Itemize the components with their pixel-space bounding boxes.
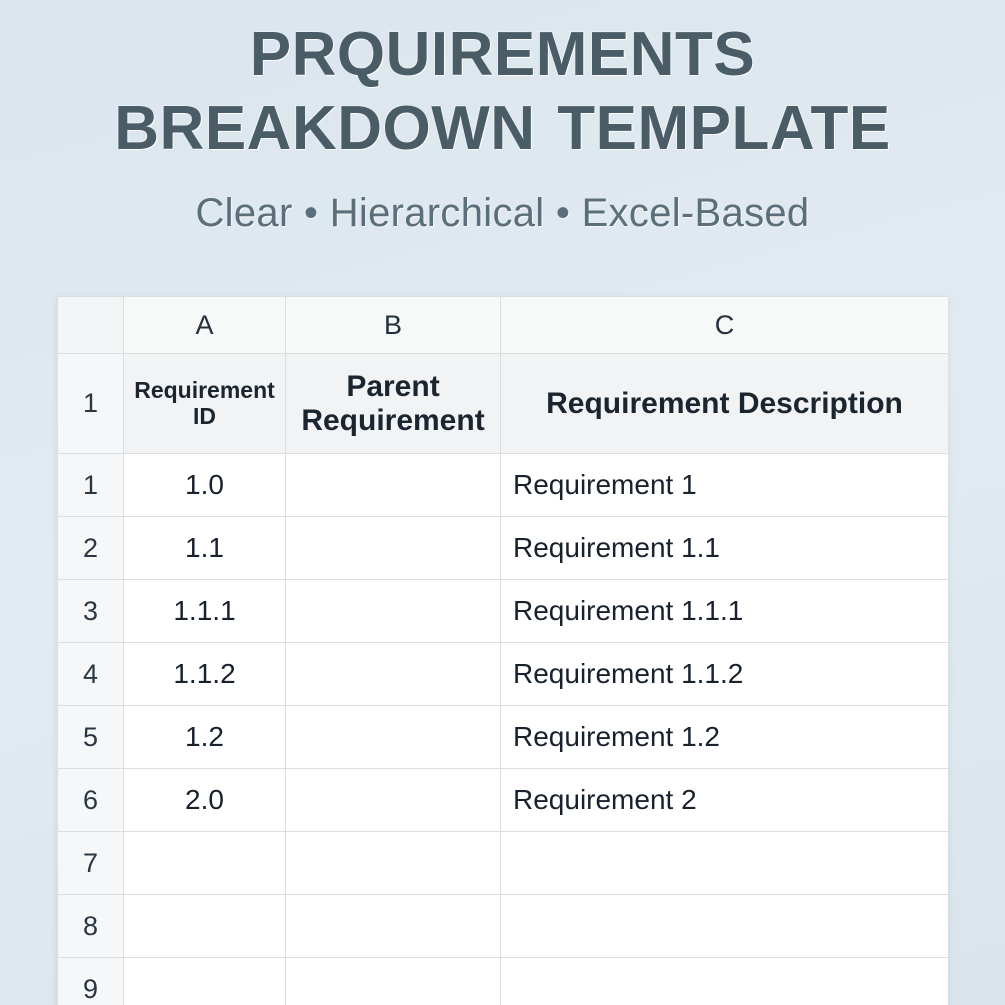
row-number[interactable]: 2 — [58, 517, 124, 580]
cell-requirement-description[interactable] — [501, 832, 949, 895]
cell-requirement-id[interactable] — [124, 895, 286, 958]
cell-requirement-id[interactable]: 1.0 — [124, 454, 286, 517]
table-row: 8 — [58, 895, 949, 958]
page-subtitle: Clear • Hierarchical • Excel-Based — [40, 188, 965, 238]
table-row: 2 1.1 Requirement 1.1 — [58, 517, 949, 580]
requirements-spreadsheet[interactable]: A B C 1 Requirement ID Parent Requiremen… — [57, 296, 948, 1005]
table-row: 5 1.2 Requirement 1.2 — [58, 706, 949, 769]
row-number[interactable]: 4 — [58, 643, 124, 706]
row-number[interactable]: 9 — [58, 958, 124, 1005]
cell-requirement-id[interactable]: 1.1 — [124, 517, 286, 580]
row-number[interactable]: 3 — [58, 580, 124, 643]
cell-parent-requirement[interactable] — [286, 580, 501, 643]
cell-parent-requirement[interactable] — [286, 517, 501, 580]
table-row: 1 1.0 Requirement 1 — [58, 454, 949, 517]
spreadsheet-container[interactable]: A B C 1 Requirement ID Parent Requiremen… — [57, 296, 948, 1005]
table-header-row: 1 Requirement ID Parent Requirement Requ… — [58, 354, 949, 454]
cell-requirement-description[interactable]: Requirement 1.1 — [501, 517, 949, 580]
row-number[interactable]: 7 — [58, 832, 124, 895]
cell-requirement-id[interactable]: 2.0 — [124, 769, 286, 832]
cell-requirement-id[interactable]: 1.1.1 — [124, 580, 286, 643]
cell-parent-requirement[interactable] — [286, 769, 501, 832]
cell-requirement-description[interactable]: Requirement 1.1.2 — [501, 643, 949, 706]
table-row: 4 1.1.2 Requirement 1.1.2 — [58, 643, 949, 706]
cell-requirement-description[interactable] — [501, 958, 949, 1005]
cell-requirement-description[interactable]: Requirement 1.1.1 — [501, 580, 949, 643]
cell-parent-requirement[interactable] — [286, 958, 501, 1005]
row-number[interactable]: 8 — [58, 895, 124, 958]
cell-requirement-id[interactable]: 1.2 — [124, 706, 286, 769]
cell-parent-requirement[interactable] — [286, 454, 501, 517]
column-letter-row: A B C — [58, 297, 949, 354]
table-row: 7 — [58, 832, 949, 895]
header-cell-requirement-id[interactable]: Requirement ID — [124, 354, 286, 454]
row-number[interactable]: 6 — [58, 769, 124, 832]
cell-parent-requirement[interactable] — [286, 895, 501, 958]
cell-requirement-description[interactable]: Requirement 2 — [501, 769, 949, 832]
cell-requirement-id[interactable]: 1.1.2 — [124, 643, 286, 706]
row-number[interactable]: 1 — [58, 454, 124, 517]
table-row: 3 1.1.1 Requirement 1.1.1 — [58, 580, 949, 643]
cell-parent-requirement[interactable] — [286, 706, 501, 769]
poster-canvas: PRQUIREMENTS BREAKDOWN TEMPLATE Clear • … — [0, 0, 1005, 1005]
column-header-b[interactable]: B — [286, 297, 501, 354]
cell-requirement-description[interactable]: Requirement 1 — [501, 454, 949, 517]
page-title: PRQUIREMENTS BREAKDOWN TEMPLATE — [40, 18, 965, 166]
table-row: 9 — [58, 958, 949, 1005]
header-cell-parent-requirement[interactable]: Parent Requirement — [286, 354, 501, 454]
header-cell-requirement-description[interactable]: Requirement Description — [501, 354, 949, 454]
select-all-corner[interactable] — [58, 297, 124, 354]
column-header-c[interactable]: C — [501, 297, 949, 354]
table-row: 6 2.0 Requirement 2 — [58, 769, 949, 832]
cell-requirement-description[interactable]: Requirement 1.2 — [501, 706, 949, 769]
cell-parent-requirement[interactable] — [286, 643, 501, 706]
row-number[interactable]: 5 — [58, 706, 124, 769]
spreadsheet-body: A B C 1 Requirement ID Parent Requiremen… — [58, 297, 949, 1005]
cell-requirement-id[interactable] — [124, 958, 286, 1005]
cell-requirement-description[interactable] — [501, 895, 949, 958]
poster-header: PRQUIREMENTS BREAKDOWN TEMPLATE Clear • … — [0, 0, 1005, 238]
column-header-a[interactable]: A — [124, 297, 286, 354]
cell-parent-requirement[interactable] — [286, 832, 501, 895]
row-number-header[interactable]: 1 — [58, 354, 124, 454]
cell-requirement-id[interactable] — [124, 832, 286, 895]
